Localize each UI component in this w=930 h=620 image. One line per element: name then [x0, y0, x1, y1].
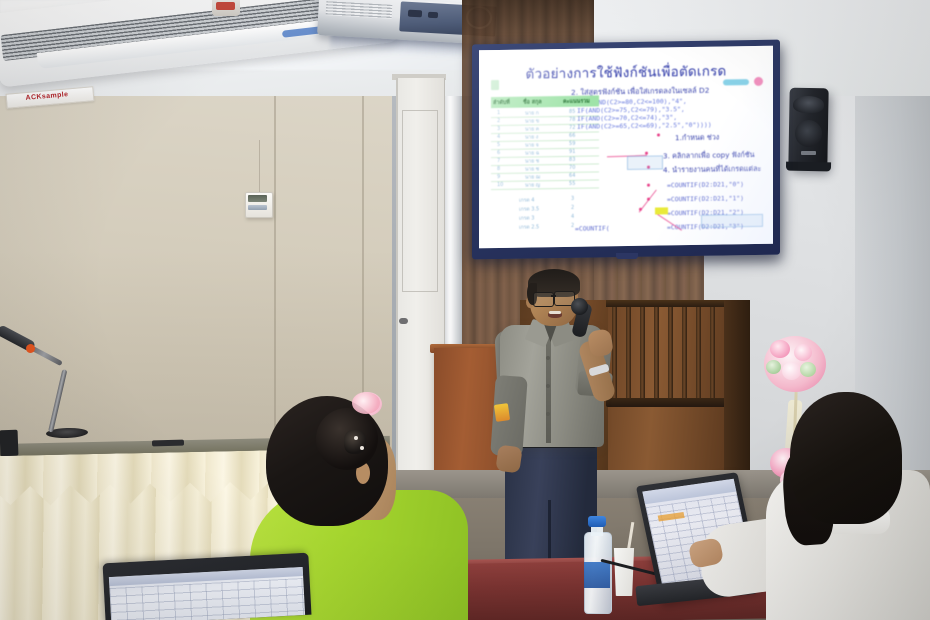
sheet-row [491, 179, 599, 190]
shirt-button [546, 412, 550, 416]
railing-post [682, 302, 687, 402]
thermostat-display [248, 195, 267, 202]
sheet-cell: 5 [497, 142, 500, 148]
marker-dot [657, 133, 660, 136]
flower-bloom [794, 344, 812, 361]
sheet-header-cell: ชื่อ สกุล [523, 98, 542, 106]
presentation-slide: ตัวอย่างการใช้ฟังก์ชันเพื่อตัดเกรด 2. ใส… [479, 46, 773, 249]
sheet-cell: 78 [569, 117, 575, 123]
railing-post [696, 302, 701, 402]
presenter-teeth [549, 311, 561, 314]
sheet-cell: 72 [569, 125, 575, 131]
tv-display[interactable]: ตัวอย่างการใช้ฟังก์ชันเพื่อตัดเกรด 2. ใส… [479, 46, 773, 249]
railing-handrail [606, 398, 728, 407]
summary-cell: เกรด 4 [519, 196, 534, 204]
speaker-badge [801, 151, 816, 155]
mini-table [627, 155, 663, 170]
slide-countif-line: =COUNTIF(D2:D21,"1") [667, 194, 744, 203]
thermostat-cable [259, 140, 260, 192]
flower-bloom [782, 362, 801, 380]
mini-table [701, 214, 763, 228]
sheet-cell: 1 [497, 110, 500, 116]
presenter-name-tag [494, 403, 510, 422]
slide-countif-left: =COUNTIF( [575, 224, 610, 233]
sheet-cell: 55 [569, 181, 575, 187]
sheet-cell: 64 [569, 173, 575, 179]
hair-pearl [354, 436, 358, 440]
door-knob[interactable] [399, 318, 408, 324]
speaker-horn [793, 96, 824, 114]
table-object [152, 440, 184, 447]
attendee-right-head [790, 392, 902, 524]
hair-pearl [360, 446, 364, 450]
tv-logo-bump [616, 253, 638, 259]
flower-leaf [766, 360, 781, 374]
flower-bloom [770, 340, 790, 358]
slide-countif-line: =COUNTIF(D2:D21,"0") [667, 180, 744, 189]
highlighted-cell [655, 207, 668, 214]
summary-cell: 2 [571, 223, 574, 229]
sheet-cell: 8 [497, 166, 500, 172]
summary-cell: 4 [571, 214, 574, 220]
conference-room-photo: ACKsample ตัวอย่างการใช้ฟังก์ชันเพื่อตัด [0, 0, 930, 620]
paper-cup[interactable] [612, 548, 636, 596]
projector-port [428, 12, 438, 19]
slide-note: 1.กำหนด ช่วง [675, 133, 719, 145]
marker-dot [647, 184, 650, 187]
presenter-left-hand [495, 444, 522, 473]
railing-top-rail [606, 300, 728, 307]
glasses-bridge [551, 295, 556, 297]
sheet-cell: 83 [569, 157, 575, 163]
handheld-microphone-head [571, 298, 588, 315]
callout-line [639, 190, 657, 213]
sheet-cell: 6 [497, 150, 500, 156]
presenter-shirt-placket [546, 335, 551, 443]
flower-leaf [800, 362, 816, 377]
summary-cell: เกรด 3 [519, 214, 534, 222]
summary-cell: เกรด 2.5 [519, 223, 539, 231]
sheet-cell: นาย ญ [525, 181, 540, 189]
emergency-light-lens [216, 2, 235, 10]
sheet-cell: 59 [569, 141, 575, 147]
shirt-button [546, 356, 550, 360]
sheet-cell: 3 [497, 126, 500, 132]
door-panel [402, 110, 438, 292]
railing-post [626, 302, 631, 402]
water-bottle-label [584, 562, 610, 588]
slide-note: 3. คลิกลากเพื่อ copy ฟังก์ชัน [663, 150, 755, 162]
sheet-header-cell: คะแนนรวม [563, 98, 590, 106]
sheet-cell: 2 [497, 118, 500, 124]
hair-flower [352, 392, 380, 414]
slide-title: ตัวอย่างการใช้ฟังก์ชันเพื่อตัดเกรด [479, 59, 773, 86]
sheet-cell: 4 [497, 134, 500, 140]
railing-post [654, 302, 659, 402]
sheet-cell: 70 [569, 165, 575, 171]
thermostat-buttons[interactable] [248, 205, 267, 210]
sheet-cell: 7 [497, 158, 500, 164]
water-bottle-cap[interactable] [588, 516, 606, 527]
laptop-foreground-screen[interactable] [109, 567, 305, 620]
summary-cell: เกรด 3.5 [519, 205, 539, 213]
projector-port [408, 10, 422, 18]
sheet-cell: 85 [569, 109, 575, 115]
slide-note: 4. นำรายงานคนที่ได้เกรดแต่ละ [663, 164, 761, 177]
sheet-header-cell: ลำดับที่ [493, 99, 510, 107]
sheet-cell: 66 [569, 133, 575, 139]
sheet-cell: 9 [497, 174, 500, 180]
sheet-cell: 10 [497, 182, 503, 188]
wall-seam [274, 90, 276, 460]
railing-post [710, 302, 715, 402]
speaker-bracket [786, 162, 831, 172]
summary-cell: 3 [571, 196, 574, 202]
hair-clip [344, 430, 366, 454]
summary-cell: 2 [571, 205, 574, 211]
railing-post [668, 302, 673, 402]
sheet-cell: 91 [569, 149, 575, 155]
shirt-button [546, 384, 550, 388]
wood-column [724, 300, 750, 495]
table-device [0, 430, 18, 457]
railing-post [640, 302, 645, 402]
